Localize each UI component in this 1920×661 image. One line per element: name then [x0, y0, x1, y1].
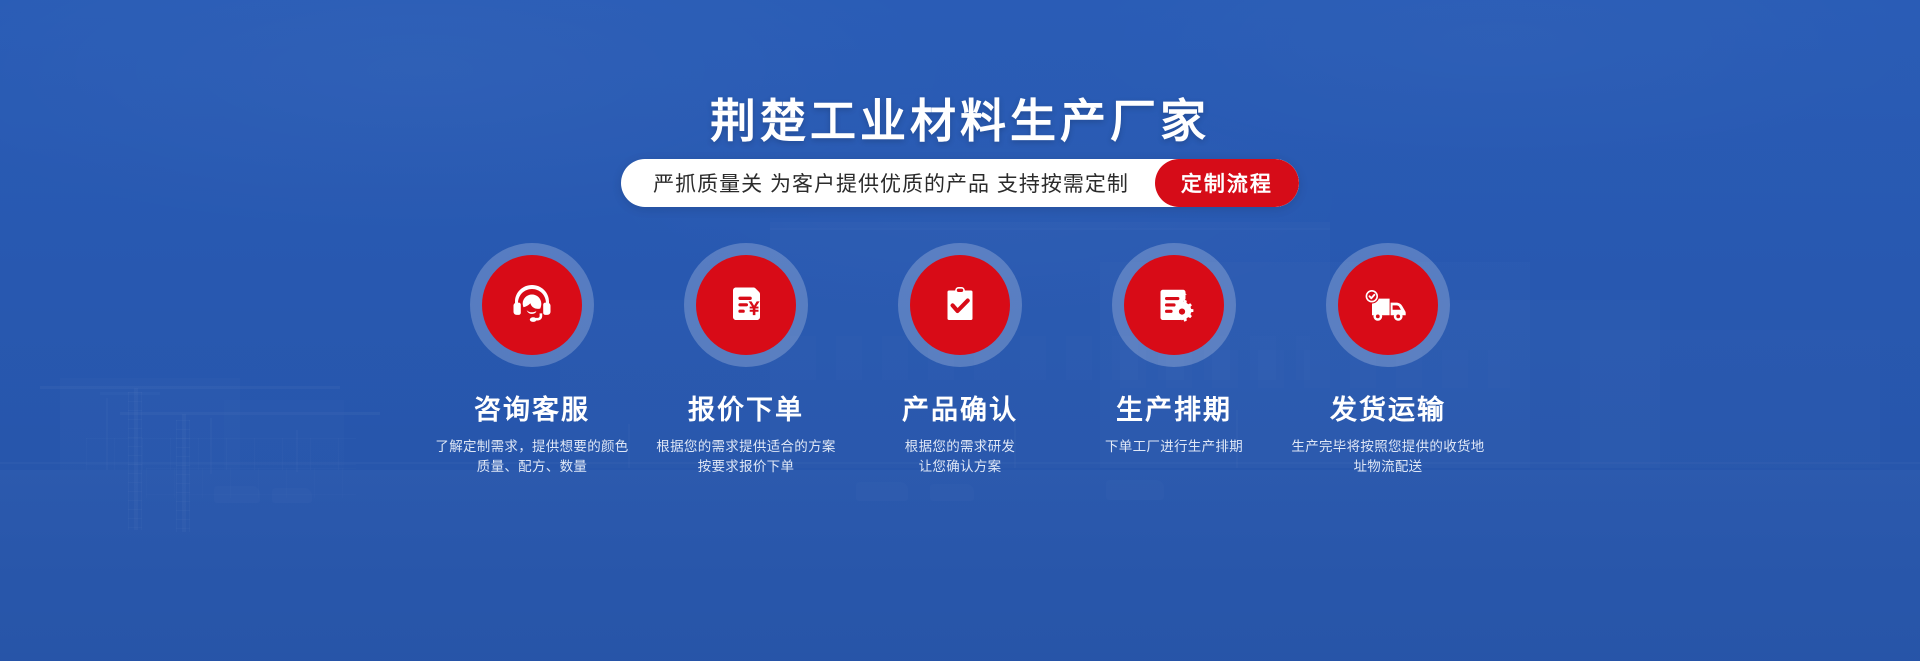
step-desc-line: 根据您的需求研发	[905, 437, 1015, 457]
step-desc-line: 质量、配方、数量	[435, 457, 628, 477]
slogan-text: 严抓质量关 为客户提供优质的产品 支持按需定制	[621, 159, 1155, 207]
icon-disc	[1338, 255, 1438, 355]
step-description: 根据您的需求研发 让您确认方案	[905, 437, 1015, 477]
step-item[interactable]: 报价下单 根据您的需求提供适合的方案 按要求报价下单	[639, 243, 853, 477]
invoice-yuan-icon	[720, 279, 772, 331]
icon-ring	[1112, 243, 1236, 367]
icon-ring	[470, 243, 594, 367]
icon-disc	[696, 255, 796, 355]
icon-ring	[1326, 243, 1450, 367]
icon-ring	[684, 243, 808, 367]
process-steps: 咨询客服 了解定制需求，提供想要的颜色 质量、配方、数量	[0, 243, 1920, 477]
step-description: 根据您的需求提供适合的方案 按要求报价下单	[656, 437, 835, 477]
step-desc-line: 让您确认方案	[905, 457, 1015, 477]
step-item[interactable]: 咨询客服 了解定制需求，提供想要的颜色 质量、配方、数量	[425, 243, 639, 477]
step-desc-line: 了解定制需求，提供想要的颜色	[435, 437, 628, 457]
page-title: 荆楚工业材料生产厂家	[0, 93, 1920, 149]
clipboard-check-icon	[934, 279, 986, 331]
custom-process-button[interactable]: 定制流程	[1155, 159, 1299, 207]
step-title: 产品确认	[902, 393, 1018, 427]
step-item[interactable]: 产品确认 根据您的需求研发 让您确认方案	[853, 243, 1067, 477]
slogan-pill: 严抓质量关 为客户提供优质的产品 支持按需定制 定制流程	[621, 159, 1299, 207]
icon-disc	[482, 255, 582, 355]
step-item[interactable]: 生产排期 下单工厂进行生产排期	[1067, 243, 1281, 477]
document-gear-icon	[1148, 279, 1200, 331]
delivery-truck-check-icon	[1360, 277, 1416, 333]
step-desc-line: 根据您的需求提供适合的方案	[656, 437, 835, 457]
step-desc-line: 下单工厂进行生产排期	[1105, 437, 1243, 457]
icon-ring	[898, 243, 1022, 367]
step-desc-line: 按要求报价下单	[656, 457, 835, 477]
step-desc-line: 址物流配送	[1291, 457, 1484, 477]
step-description: 了解定制需求，提供想要的颜色 质量、配方、数量	[435, 437, 628, 477]
step-desc-line: 生产完毕将按照您提供的收货地	[1291, 437, 1484, 457]
icon-disc	[1124, 255, 1224, 355]
step-title: 咨询客服	[474, 393, 590, 427]
step-title: 报价下单	[688, 393, 804, 427]
promo-banner: 荆楚工业材料生产厂家 严抓质量关 为客户提供优质的产品 支持按需定制 定制流程	[0, 0, 1920, 661]
headset-support-icon	[505, 278, 559, 332]
icon-disc	[910, 255, 1010, 355]
step-item[interactable]: 发货运输 生产完毕将按照您提供的收货地 址物流配送	[1281, 243, 1495, 477]
step-title: 发货运输	[1330, 393, 1446, 427]
step-description: 下单工厂进行生产排期	[1105, 437, 1243, 457]
step-description: 生产完毕将按照您提供的收货地 址物流配送	[1291, 437, 1484, 477]
step-title: 生产排期	[1116, 393, 1232, 427]
